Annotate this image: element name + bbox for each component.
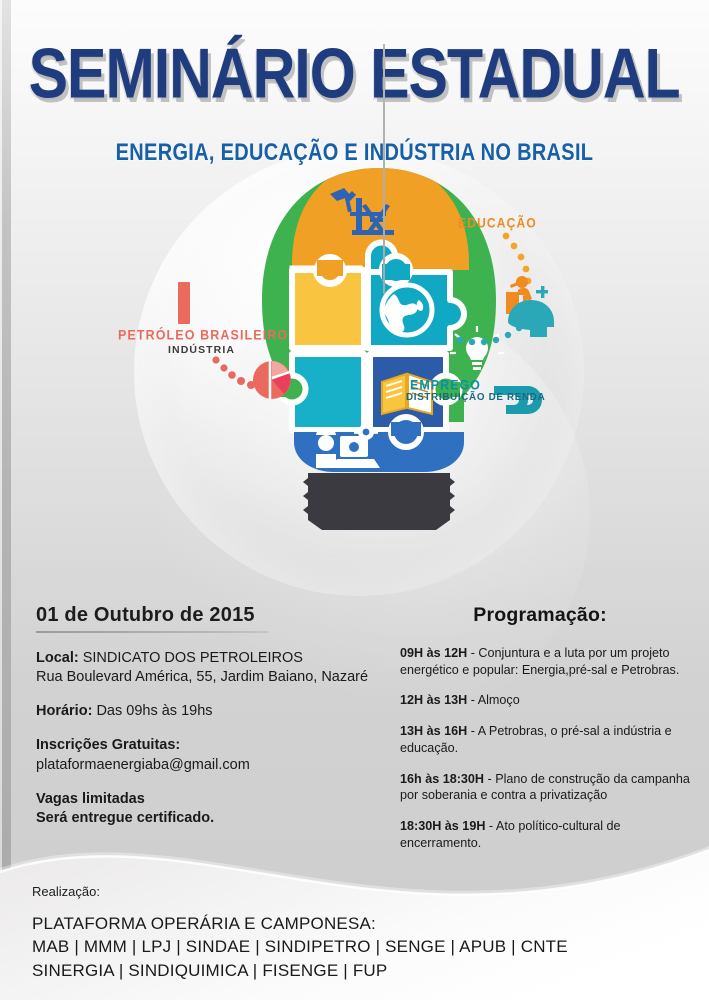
venue-label: Local: [36,650,79,666]
schedule-item: 18:30H às 19H - Ato político-cultural de… [390,818,690,851]
schedule-item: 12H às 13H - Almoço [390,692,690,709]
title-block: SEMINÁRIO ESTADUAL [0,40,709,107]
programme-column: Programação: 09H às 12H - Conjuntura e a… [390,604,690,866]
schedule-time: 13H às 16H [400,724,467,738]
info-section: 01 de Outubro de 2015 Local: SINDICATO D… [0,604,709,904]
schedule-time: 09H às 12H [400,646,467,660]
page-title: SEMINÁRIO ESTADUAL [29,33,680,115]
notes-block: Vagas limitadas Será entregue certificad… [30,790,375,828]
subtitle-block: ENERGIA, EDUCAÇÃO E INDÚSTRIA NO BRASIL [0,142,709,165]
hours-block: Horário: Das 09hs às 19hs [30,702,375,721]
bulb-socket [303,473,455,530]
label-industria: INDÚSTRIA [168,344,235,356]
event-details-column: 01 de Outubro de 2015 Local: SINDICATO D… [30,604,375,843]
column-divider [383,44,385,294]
schedule-time: 18:30H às 19H [400,819,485,833]
label-petroleo-brasileiro: PETRÓLEO BRASILEIRO [118,327,288,342]
schedule-item: 16h às 18:30H - Plano de construção da c… [390,771,690,804]
schedule-item: 13H às 16H - A Petrobras, o pré-sal a in… [390,723,690,756]
hours-value: Das 09hs às 19hs [96,703,212,719]
page-subtitle: ENERGIA, EDUCAÇÃO E INDÚSTRIA NO BRASIL [116,140,594,167]
organizer-list-line-1: MAB | MMM | LPJ | SINDAE | SINDIPETRO | … [32,935,692,958]
schedule-time: 16h às 18:30H [400,772,484,786]
venue-value: SINDICATO DOS PETROLEIROS [83,650,303,666]
event-date: 01 de Outubro de 2015 [30,604,375,627]
footer-section: Realização: PLATAFORMA OPERÁRIA E CAMPON… [32,884,692,982]
venue-address: Rua Boulevard América, 55, Jardim Baiano… [36,669,368,685]
certificate-note: Será entregue certificado. [36,810,214,826]
label-educacao: EDUCAÇÃO [458,215,537,231]
schedule-item: 09H às 12H - Conjuntura e a luta por um … [390,645,690,678]
programme-title: Programação: [390,604,690,627]
limited-seats-note: Vagas limitadas [36,791,145,807]
schedule-time: 12H às 13H [400,693,467,707]
label-distribuicao-de-renda: DISTRIBUIÇÃO DE RENDA [406,392,545,403]
schedule-desc: - Almoço [467,693,520,707]
organizer-list-line-2: SINERGIA | SINDIQUIMICA | FISENGE | FUP [32,959,692,982]
registration-email[interactable]: plataformaenergiaba@gmail.com [36,757,250,773]
venue-block: Local: SINDICATO DOS PETROLEIROS Rua Bou… [30,649,375,687]
poster-root: SEMINÁRIO ESTADUAL ENERGIA, EDUCAÇÃO E I… [0,0,709,1000]
realizacao-label: Realização: [32,884,692,899]
hours-label: Horário: [36,703,92,719]
registration-label: Inscrições Gratuitas: [36,737,180,753]
puzzle-pieces [279,239,465,472]
label-emprego: EMPREGO [410,377,481,393]
organizer-title: PLATAFORMA OPERÁRIA E CAMPONESA: [32,912,692,935]
date-underline [36,631,268,633]
registration-block: Inscrições Gratuitas: plataformaenergiab… [30,736,375,774]
